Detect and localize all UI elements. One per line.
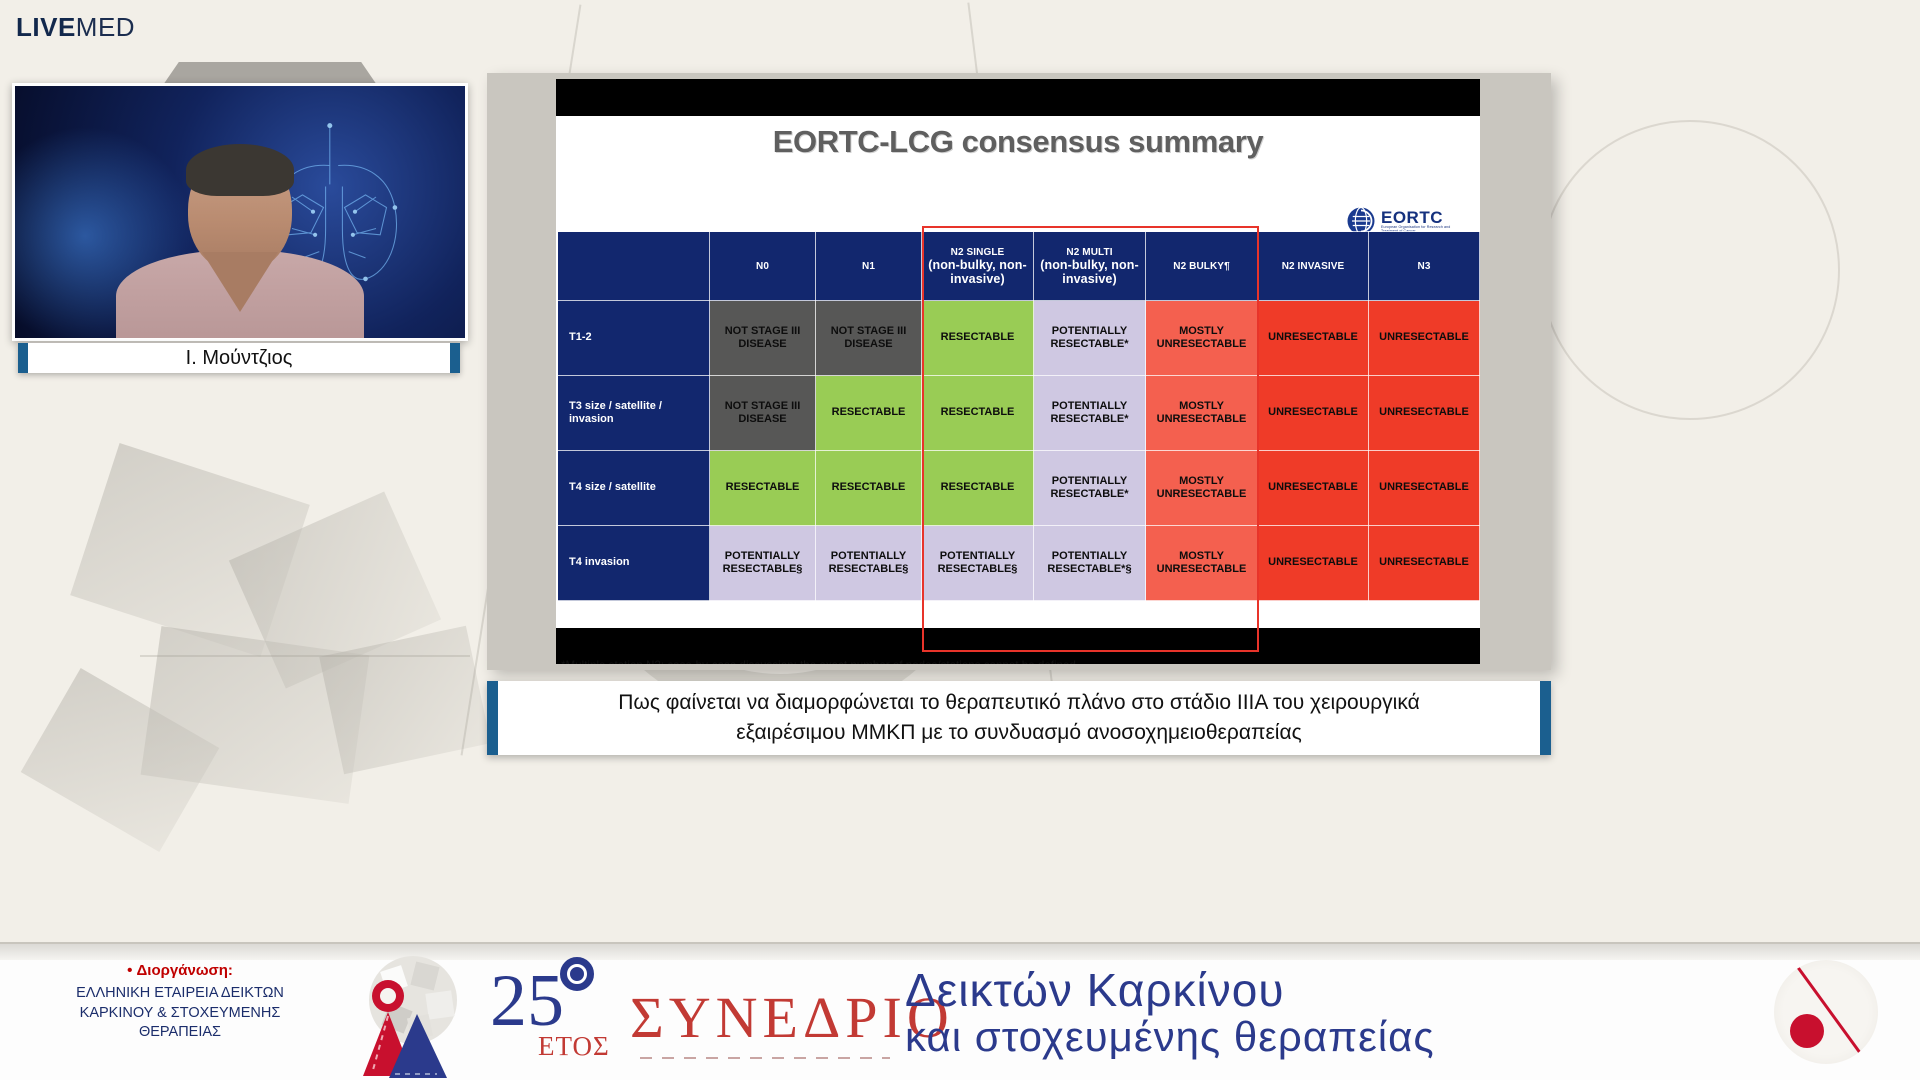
cell-r3c5: UNRESECTABLE (1258, 526, 1369, 601)
cell-r1c2: RESECTABLE (922, 376, 1034, 451)
table-row: T4 invasion POTENTIALLY RESECTABLE§ POTE… (558, 526, 1480, 601)
footer-bar: • Διοργάνωση: ΕΛΛΗΝΙΚΗ ΕΤΑΙΡΕΙΑ ΔΕΙΚΤΩΝ … (0, 942, 1920, 1080)
col-header-n2-multi-sub: (non-bulky, non-invasive) (1037, 258, 1142, 286)
col-header-n2-multi: N2 MULTI (non-bulky, non-invasive) (1034, 232, 1146, 301)
col-header-n2-bulky: N2 BULKY¶ (1146, 232, 1258, 301)
table-row: T1-2 NOT STAGE III DISEASE NOT STAGE III… (558, 301, 1480, 376)
cell-r1c4: MOSTLY UNRESECTABLE (1146, 376, 1258, 451)
congress-logo-icon (355, 954, 475, 1079)
organizer-block: • Διοργάνωση: ΕΛΛΗΝΙΚΗ ΕΤΑΙΡΕΙΑ ΔΕΙΚΤΩΝ … (20, 962, 340, 1043)
organizer-name-line-1: ΕΛΛΗΝΙΚΗ ΕΤΑΙΡΕΙΑ ΔΕΙΚΤΩΝ (76, 985, 284, 1001)
cell-r2c4: MOSTLY UNRESECTABLE (1146, 451, 1258, 526)
col-header-n1-label: N1 (862, 261, 875, 272)
congress-word-underline (640, 1057, 890, 1059)
caption-line-2: εξαιρέσιμου ΜΜΚΠ με το συνδυασμό ανοσοχη… (736, 721, 1301, 744)
organizer-label: • Διοργάνωση: (20, 962, 340, 979)
organizer-name-line-3: ΘΕΡΑΠΕΙΑΣ (139, 1024, 221, 1040)
cell-r0c4: MOSTLY UNRESECTABLE (1146, 301, 1258, 376)
col-header-n1: N1 (816, 232, 922, 301)
slide-title: EORTC-LCG consensus summary (556, 124, 1480, 160)
cell-r1c3: POTENTIALLY RESECTABLE* (1034, 376, 1146, 451)
background-circle-1 (1540, 120, 1840, 420)
cell-r2c6: UNRESECTABLE (1369, 451, 1480, 526)
cell-r3c1: POTENTIALLY RESECTABLE§ (816, 526, 922, 601)
cell-r0c5: UNRESECTABLE (1258, 301, 1369, 376)
decorative-red-mark (1774, 960, 1878, 1064)
col-header-n2-bulky-label: N2 BULKY¶ (1173, 261, 1229, 272)
congress-title-line-2: και στοχευμένης θεραπείας (905, 1015, 1435, 1060)
cell-r0c1: NOT STAGE III DISEASE (816, 301, 922, 376)
cell-r2c1: RESECTABLE (816, 451, 922, 526)
cell-r3c6: UNRESECTABLE (1369, 526, 1480, 601)
col-header-n3-label: N3 (1418, 261, 1431, 272)
speaker-name: Ι. Μούντζιος (186, 347, 293, 370)
cell-r3c4: MOSTLY UNRESECTABLE (1146, 526, 1258, 601)
col-header-n2-single-sub: (non-bulky, non-invasive) (925, 258, 1030, 286)
col-header-n2-single: N2 SINGLE (non-bulky, non-invasive) (922, 232, 1034, 301)
brand-logo-med: MED (76, 12, 135, 42)
col-header-n0: N0 (710, 232, 816, 301)
col-header-n3: N3 (1369, 232, 1480, 301)
cell-r2c5: UNRESECTABLE (1258, 451, 1369, 526)
organizer-name-line-2: ΚΑΡΚΙΝΟΥ & ΣΤΟΧΕΥΜΕΝΗΣ (80, 1005, 281, 1021)
table-row: T3 size / satellite / invasion NOT STAGE… (558, 376, 1480, 451)
eortc-logo-name: EORTC (1381, 209, 1466, 226)
col-header-n2-single-label: N2 SINGLE (951, 247, 1005, 258)
row-label-t1-2: T1-2 (558, 301, 710, 376)
col-header-n2-multi-label: N2 MULTI (1066, 247, 1112, 258)
caption-line-1: Πως φαίνεται να διαμορφώνεται το θεραπευ… (618, 691, 1419, 714)
slide-footnotes: *Multiple station N2: case-by-case discu… (558, 659, 1478, 664)
slide-content: EORTC-LCG consensus summary EORTC Europe… (556, 116, 1480, 628)
cell-r3c0: POTENTIALLY RESECTABLE§ (710, 526, 816, 601)
caption-text: Πως φαίνεται να διαμορφώνεται το θεραπευ… (618, 688, 1419, 748)
row-label-t4-invasion: T4 invasion (558, 526, 710, 601)
edition-number: 25 (490, 964, 598, 1038)
page-root: LIVEMED (0, 0, 1920, 1080)
cell-r2c2: RESECTABLE (922, 451, 1034, 526)
red-mark-dot (1790, 1014, 1824, 1048)
cell-r1c6: UNRESECTABLE (1369, 376, 1480, 451)
table-corner-cell (558, 232, 710, 301)
session-caption: Πως φαίνεται να διαμορφώνεται το θεραπευ… (487, 681, 1551, 755)
speaker-nameplate: Ι. Μούντζιος (18, 343, 460, 373)
row-label-t4-size: T4 size / satellite (558, 451, 710, 526)
table-row: T4 size / satellite RESECTABLE RESECTABL… (558, 451, 1480, 526)
col-header-n0-label: N0 (756, 261, 769, 272)
cell-r1c5: UNRESECTABLE (1258, 376, 1369, 451)
cell-r0c3: POTENTIALLY RESECTABLE* (1034, 301, 1146, 376)
degree-symbol-icon (560, 957, 594, 991)
cell-r3c3: POTENTIALLY RESECTABLE*§ (1034, 526, 1146, 601)
slide-container[interactable]: EORTC-LCG consensus summary EORTC Europe… (556, 79, 1480, 664)
cell-r1c0: NOT STAGE III DISEASE (710, 376, 816, 451)
speaker-hair (186, 144, 294, 196)
edition-word: ΕΤΟΣ (538, 1031, 610, 1062)
table-header-row: N0 N1 N2 SINGLE (non-bulky, non-invasive… (558, 232, 1480, 301)
cell-r0c2: RESECTABLE (922, 301, 1034, 376)
col-header-n2-invasive: N2 INVASIVE (1258, 232, 1369, 301)
organizer-label-text: Διοργάνωση: (137, 962, 233, 979)
cell-r0c0: NOT STAGE III DISEASE (710, 301, 816, 376)
background-line-3 (140, 655, 470, 657)
edition-number-text: 25 (490, 960, 564, 1042)
footer-top-band (0, 944, 1920, 960)
eortc-logo-text: EORTC European Organisation for Research… (1381, 209, 1466, 234)
col-header-n2-invasive-label: N2 INVASIVE (1282, 261, 1345, 272)
congress-title-line-1: Δεικτών Καρκίνου (905, 966, 1435, 1015)
row-label-t3: T3 size / satellite / invasion (558, 376, 710, 451)
cell-r1c1: RESECTABLE (816, 376, 922, 451)
consensus-table: N0 N1 N2 SINGLE (non-bulky, non-invasive… (557, 231, 1480, 601)
cell-r3c2: POTENTIALLY RESECTABLE§ (922, 526, 1034, 601)
cell-r2c3: POTENTIALLY RESECTABLE* (1034, 451, 1146, 526)
brand-logo-live: LIVE (16, 12, 76, 42)
organizer-name: ΕΛΛΗΝΙΚΗ ΕΤΑΙΡΕΙΑ ΔΕΙΚΤΩΝ ΚΑΡΚΙΝΟΥ & ΣΤΟ… (20, 984, 340, 1043)
cell-r0c6: UNRESECTABLE (1369, 301, 1480, 376)
cell-r2c0: RESECTABLE (710, 451, 816, 526)
brand-logo: LIVEMED (16, 14, 135, 40)
congress-title: Δεικτών Καρκίνου και στοχευμένης θεραπεί… (905, 966, 1435, 1059)
red-mark-slash (1782, 960, 1873, 1064)
speaker-video[interactable] (12, 83, 468, 341)
footnote-1: *Multiple station N2: case-by-case discu… (561, 659, 1478, 664)
